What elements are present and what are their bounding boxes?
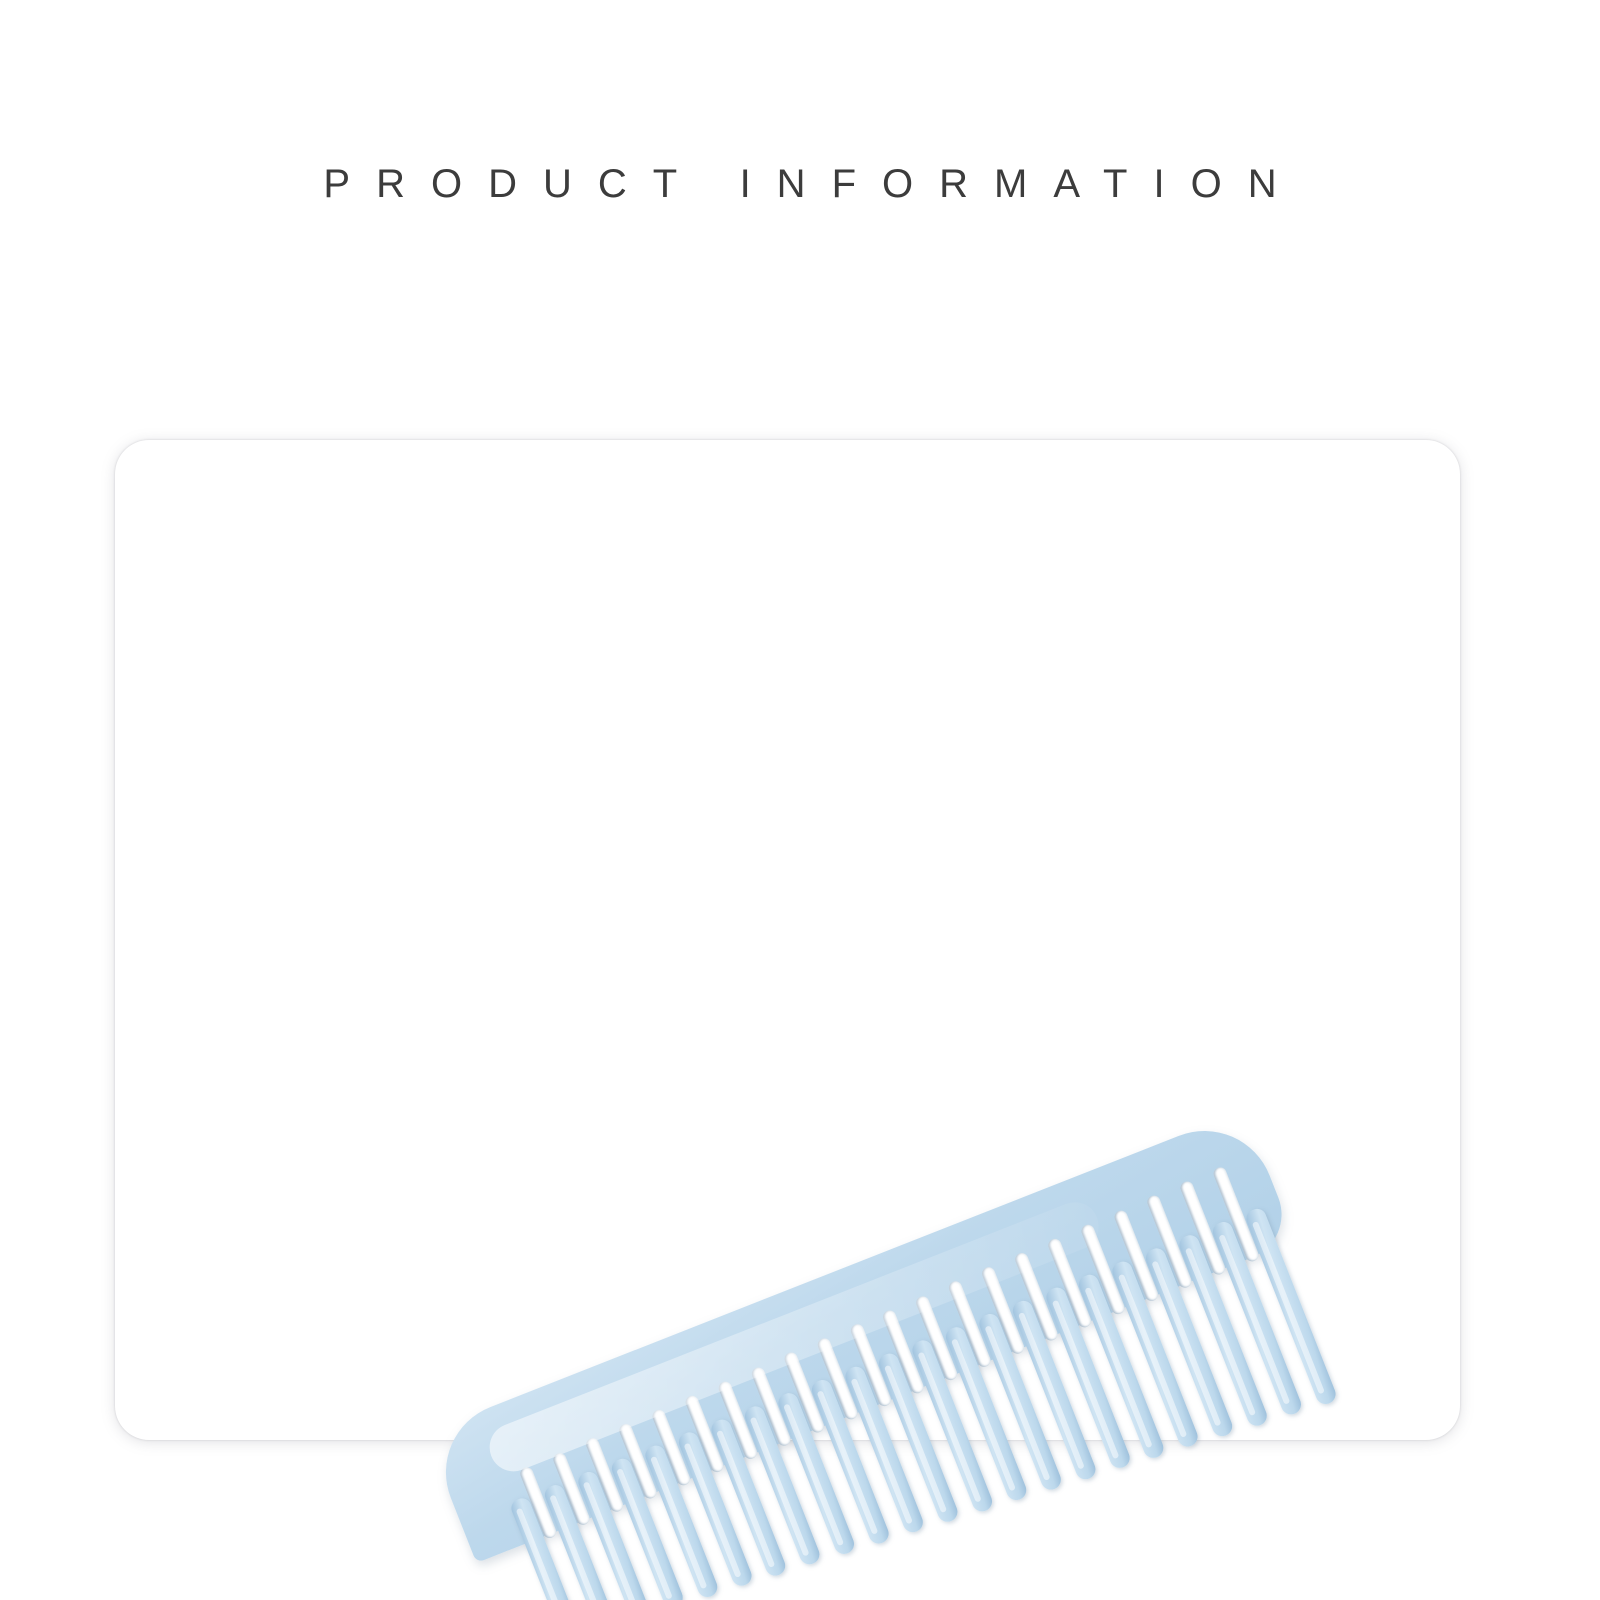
comb-graphic [425, 1110, 1365, 1600]
product-information-page: PRODUCT INFORMATION 15.4cm/6.06" 5.8cm/2… [0, 0, 1600, 1600]
page-title: PRODUCT INFORMATION [0, 160, 1600, 208]
comb-illustration: 15.4cm/6.06" 5.8cm/2.28" [415, 1030, 1415, 1600]
product-image-card: 15.4cm/6.06" 5.8cm/2.28" [115, 440, 1460, 1440]
